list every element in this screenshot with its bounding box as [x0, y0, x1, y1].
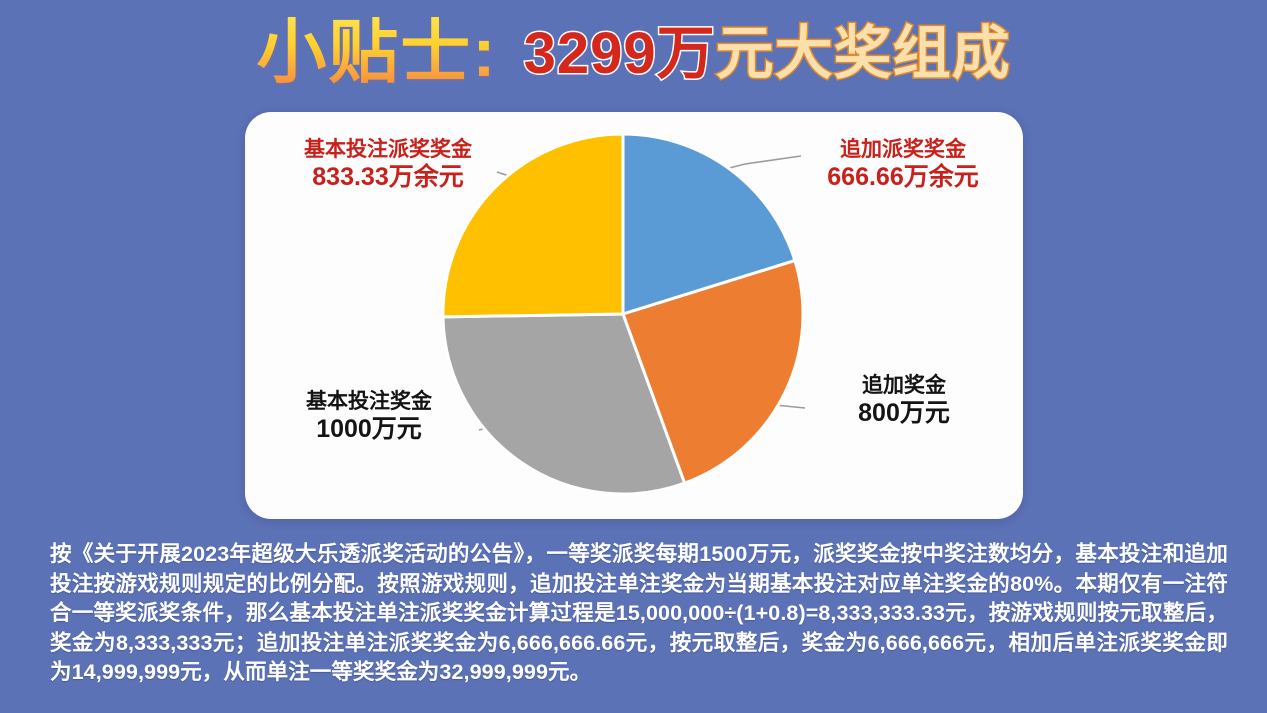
label-basic-bonus-name: 基本投注派奖奖金 [263, 138, 513, 163]
prize-amount-text: 3299万 [524, 25, 716, 83]
label-basic-prize: 基本投注奖金 1000万元 [255, 390, 483, 444]
label-extra-bonus-value: 666.66万余元 [785, 163, 1021, 193]
explanation-paragraph: 按《关于开展2023年超级大乐透派奖活动的公告》，一等奖派奖每期1500万元，派… [50, 540, 1228, 688]
label-extra-prize-name: 追加奖金 [801, 374, 1007, 399]
label-basic-bonus-value: 833.33万余元 [263, 163, 513, 193]
label-basic-prize-name: 基本投注奖金 [255, 390, 483, 415]
label-basic-prize-value: 1000万元 [255, 415, 483, 445]
chart-card: 基本投注派奖奖金 833.33万余元 追加派奖奖金 666.66万余元 基本投注… [245, 112, 1023, 519]
tips-heading: 小贴士: [256, 17, 497, 91]
label-extra-prize-value: 800万元 [801, 399, 1007, 429]
prize-composition-heading: 3299万 元大奖组成 [524, 25, 1011, 83]
label-extra-bonus: 追加派奖奖金 666.66万余元 [785, 138, 1021, 192]
title-bar: 小贴士: 3299万 元大奖组成 [0, 8, 1267, 100]
label-extra-bonus-name: 追加派奖奖金 [785, 138, 1021, 163]
label-basic-bonus: 基本投注派奖奖金 833.33万余元 [263, 138, 513, 192]
label-extra-prize: 追加奖金 800万元 [801, 374, 1007, 428]
prize-suffix-text: 元大奖组成 [716, 25, 1011, 83]
pie-chart: 基本投注派奖奖金 833.33万余元 追加派奖奖金 666.66万余元 基本投注… [245, 112, 1023, 519]
